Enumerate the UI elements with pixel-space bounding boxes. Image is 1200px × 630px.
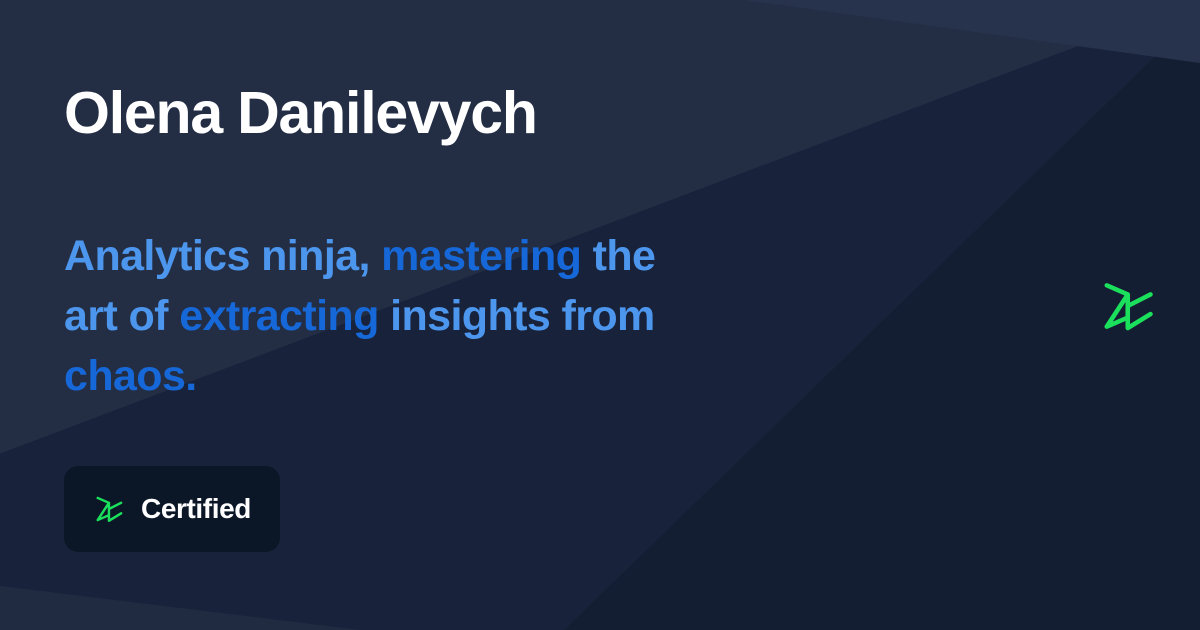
tagline-segment: chaos. bbox=[64, 352, 197, 400]
tagline-segment: insights from bbox=[379, 292, 655, 340]
dk-monogram-icon bbox=[1098, 278, 1154, 334]
dk-monogram-icon bbox=[93, 494, 123, 524]
tagline-segment: Analytics ninja, bbox=[64, 232, 381, 280]
tagline-segment: extracting bbox=[179, 292, 379, 340]
tagline-segment: mastering bbox=[381, 232, 581, 280]
profile-tagline: Analytics ninja, mastering the art of ex… bbox=[64, 226, 704, 406]
profile-name: Olena Danilevych bbox=[64, 83, 537, 145]
certified-badge[interactable]: Certified bbox=[64, 466, 280, 552]
card-content: Olena Danilevych Analytics ninja, master… bbox=[0, 0, 1200, 630]
certified-badge-label: Certified bbox=[141, 495, 251, 523]
